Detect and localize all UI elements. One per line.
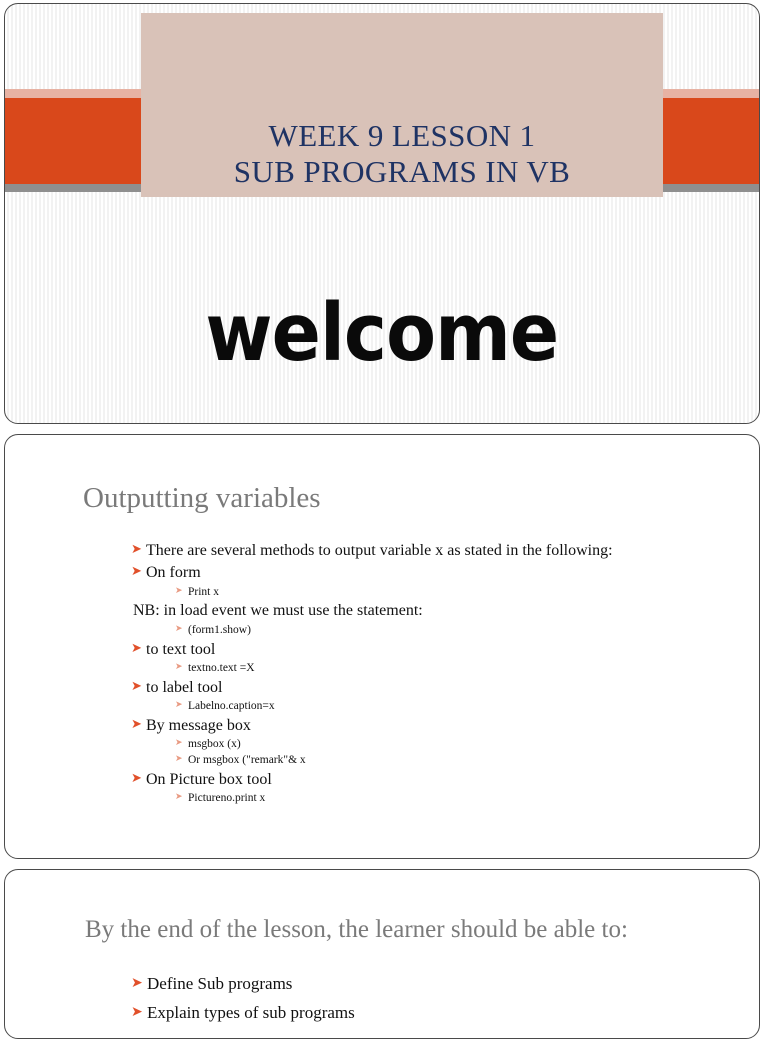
list-item: ➤Labelno.caption=x [175,699,699,714]
list-item-label: On form [146,562,201,583]
list-item: ➤Explain types of sub programs [131,1002,699,1025]
list-item-label: msgbox (x) [188,737,241,752]
list-item: ➤By message box [131,715,699,736]
slide-1-title: WEEK 9 LESSON 1 SUB PROGRAMS IN VB welco… [4,3,760,424]
list-item-label: Pictureno.print x [188,791,265,806]
slide-3-objectives: By the end of the lesson, the learner sh… [4,869,760,1039]
list-item-label: Or msgbox ("remark"& x [188,753,306,768]
deck-title-line-1: WEEK 9 LESSON 1 [234,118,571,155]
arrow-bullet-icon: ➤ [175,623,188,634]
arrow-bullet-icon: ➤ [175,791,188,802]
list-item-label: By message box [146,715,251,736]
arrow-bullet-icon: ➤ [131,639,146,655]
list-item: ➤Print x [175,585,699,600]
list-item-label: Define Sub programs [147,973,292,996]
list-item: ➤textno.text =X [175,661,699,676]
deck-title-line-2: SUB PROGRAMS IN VB [234,154,571,191]
list-item-label: NB: in load event we must use the statem… [133,600,423,621]
arrow-bullet-icon: ➤ [175,753,188,764]
arrow-bullet-icon: ➤ [131,769,146,785]
page-title: Outputting variables [83,482,321,515]
list-item: NB: in load event we must use the statem… [131,600,699,621]
list-item: ➤(form1.show) [175,623,699,638]
arrow-bullet-icon: ➤ [175,699,188,710]
arrow-bullet-icon: ➤ [131,677,146,693]
list-item: ➤There are several methods to output var… [131,540,699,561]
arrow-bullet-icon: ➤ [131,715,146,731]
list-item: ➤ msgbox (x) [175,737,699,752]
slide-deck: WEEK 9 LESSON 1 SUB PROGRAMS IN VB welco… [0,0,768,1024]
page-title: By the end of the lesson, the learner sh… [85,916,628,944]
list-item: ➤On Picture box tool [131,769,699,790]
list-item: ➤On form [131,562,699,583]
arrow-bullet-icon: ➤ [175,737,188,748]
list-item-label: to label tool [146,677,222,698]
list-item-label: Print x [188,585,219,600]
list-item: ➤Or msgbox ("remark"& x [175,753,699,768]
arrow-bullet-icon: ➤ [131,540,146,556]
arrow-bullet-icon: ➤ [131,973,147,990]
arrow-bullet-icon: ➤ [175,661,188,672]
arrow-bullet-icon: ➤ [131,1002,147,1019]
bullet-list: ➤Define Sub programs➤Explain types of su… [131,973,699,1030]
list-item-label: to text tool [146,639,215,660]
welcome-text: welcome [206,294,559,373]
list-item-label: Explain types of sub programs [147,1002,355,1025]
list-item: ➤Define Sub programs [131,973,699,996]
list-item: ➤to text tool [131,639,699,660]
list-item-label: Labelno.caption=x [188,699,275,714]
bullet-list: ➤There are several methods to output var… [131,540,699,807]
welcome-wrap: welcome [5,294,759,373]
title-card: WEEK 9 LESSON 1 SUB PROGRAMS IN VB [141,13,663,197]
list-item-label: There are several methods to output vari… [146,540,613,561]
list-item: ➤Pictureno.print x [175,791,699,806]
arrow-bullet-icon: ➤ [175,585,188,596]
list-item: ➤to label tool [131,677,699,698]
title-card-inner: WEEK 9 LESSON 1 SUB PROGRAMS IN VB [234,118,571,191]
arrow-bullet-icon: ➤ [131,562,146,578]
slide-2-outputting-variables: Outputting variables ➤There are several … [4,434,760,859]
list-item-label: (form1.show) [188,623,251,638]
list-item-label: On Picture box tool [146,769,272,790]
list-item-label: textno.text =X [188,661,255,676]
